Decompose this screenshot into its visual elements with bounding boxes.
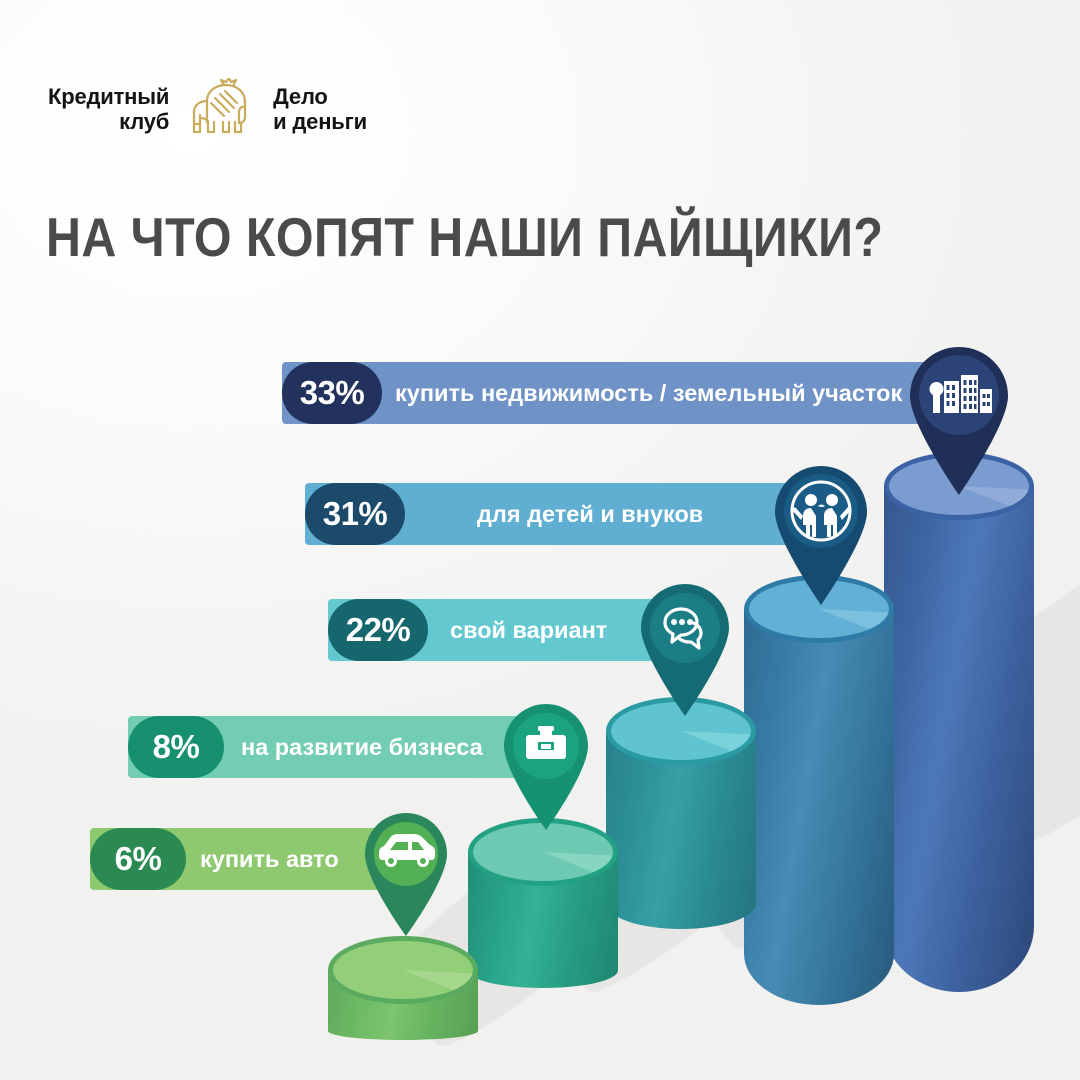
cylinder-bar-1 [884,452,1034,992]
value-label: 8% [153,728,200,766]
value-badge: 22% [328,599,428,661]
chart-stage: 33% купить недвижимость / земельный учас… [0,0,1080,1080]
cylinder-top-face [333,941,473,999]
cylinder-body [744,609,894,1005]
bar-track: 6% купить авто [90,828,402,890]
bar-track: 31% для детей и внуков [305,483,824,545]
map-pin-buildings[interactable] [900,339,1018,495]
cylinder-bar-3 [606,697,756,929]
chart-row-4[interactable]: 8% на развитие бизнеса [128,716,540,778]
map-pin-toolbox[interactable] [496,698,596,830]
value-label: 31% [323,495,388,533]
map-pin-car[interactable] [358,808,454,936]
cylinder-bar-2 [744,575,894,1005]
bar-label: свой вариант [450,617,607,644]
bar-label: на развитие бизнеса [241,734,483,761]
bar-label: купить авто [200,846,339,873]
map-pin-chat[interactable] [633,578,737,716]
chat-dots [671,619,693,625]
cylinder-body [884,486,1034,992]
value-badge: 8% [128,716,224,778]
bar-track: 8% на развитие бизнеса [128,716,540,778]
chart-row-5[interactable]: 6% купить авто [90,828,402,890]
bar-label: для детей и внуков [477,501,703,528]
map-pin-family[interactable] [766,459,876,605]
value-badge: 33% [282,362,382,424]
value-badge: 31% [305,483,405,545]
bar-track: 33% купить недвижимость / земельный учас… [282,362,956,424]
chart-row-2[interactable]: 31% для детей и внуков [305,483,824,545]
value-badge: 6% [90,828,186,890]
value-label: 6% [115,840,162,878]
cylinder-bar-5 [328,936,478,1040]
value-label: 33% [300,374,365,412]
cylinder-bar-4 [468,818,618,988]
chart-row-1[interactable]: 33% купить недвижимость / земельный учас… [282,362,956,424]
value-label: 22% [346,611,411,649]
bar-label: купить недвижимость / земельный участок [395,380,902,407]
cylinder-top-face [473,823,613,881]
